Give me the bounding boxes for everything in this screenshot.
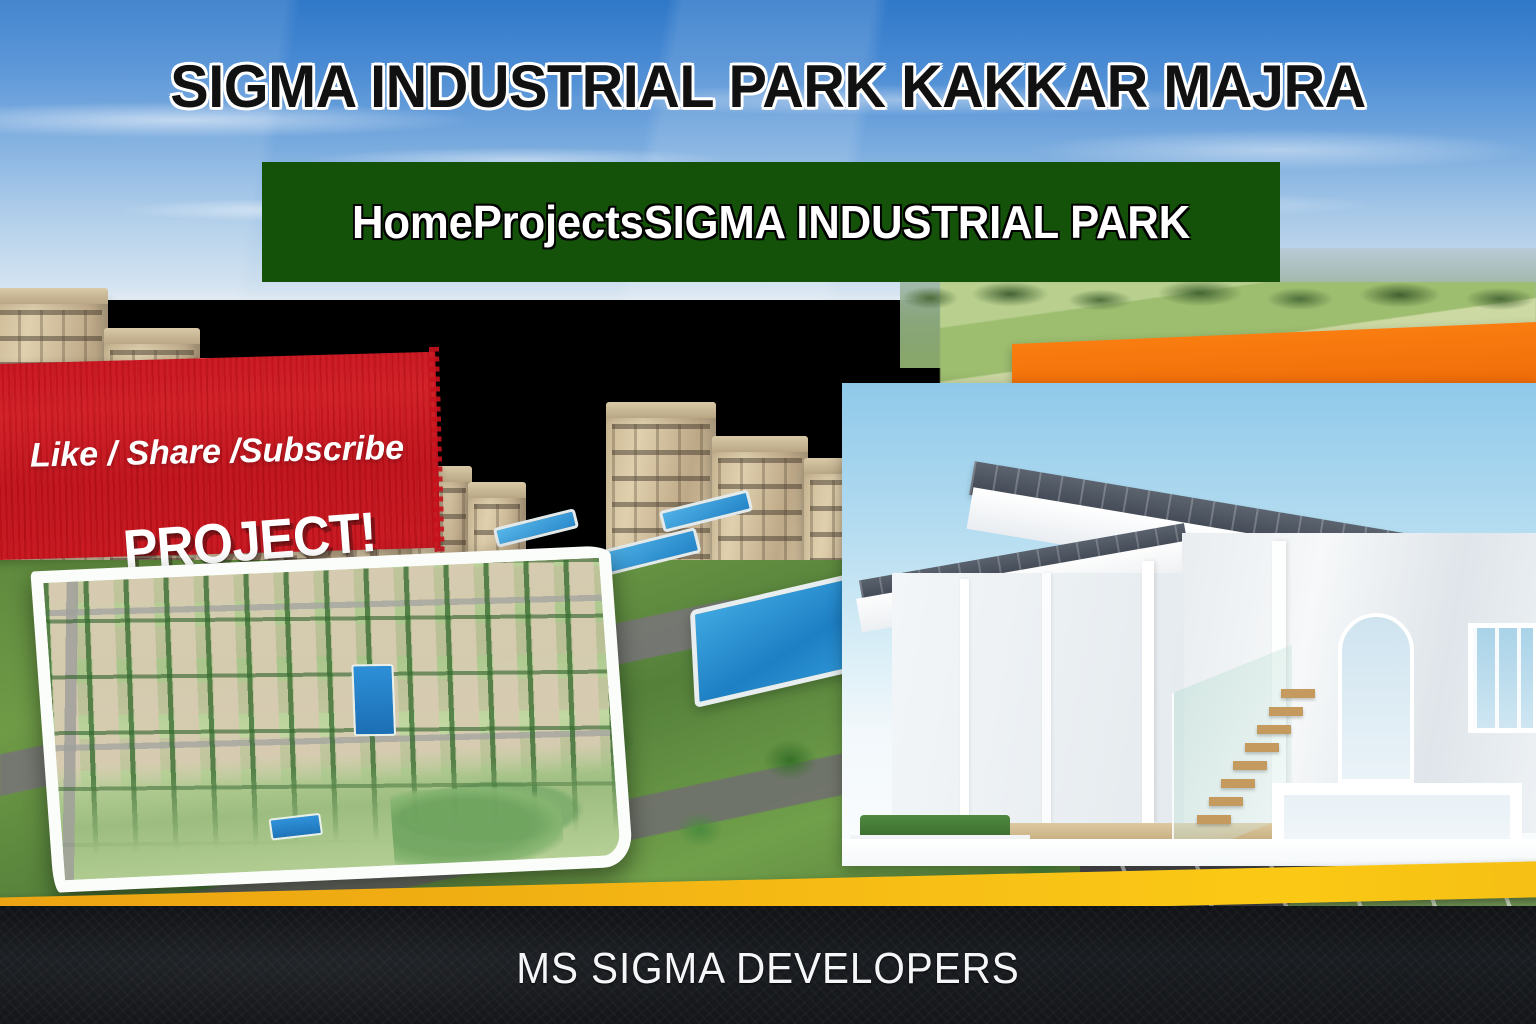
arched-window [1338, 613, 1414, 783]
ground-plane [842, 839, 1536, 866]
house-render-panel[interactable] [842, 383, 1536, 866]
breadcrumb[interactable]: HomeProjectsSIGMA INDUSTRIAL PARK [262, 162, 1280, 282]
page-title: SIGMA INDUSTRIAL PARK KAKKAR MAJRA [31, 52, 1506, 121]
column-3 [1142, 561, 1154, 823]
site-plan-lake [389, 784, 565, 870]
breadcrumb-label: HomeProjectsSIGMA INDUSTRIAL PARK [352, 195, 1190, 249]
left-wall [892, 573, 1184, 823]
site-plan-frame [30, 545, 633, 892]
developer-name: MS SIGMA DEVELOPERS [61, 944, 1474, 994]
site-plan-central-pool [351, 664, 396, 736]
banner-canvas: SIGMA INDUSTRIAL PARK KAKKAR MAJRA HomeP… [0, 0, 1536, 1024]
column-2 [1042, 573, 1051, 823]
right-window [1468, 623, 1536, 733]
column-1 [960, 579, 969, 823]
site-plan-photo[interactable] [30, 545, 633, 892]
